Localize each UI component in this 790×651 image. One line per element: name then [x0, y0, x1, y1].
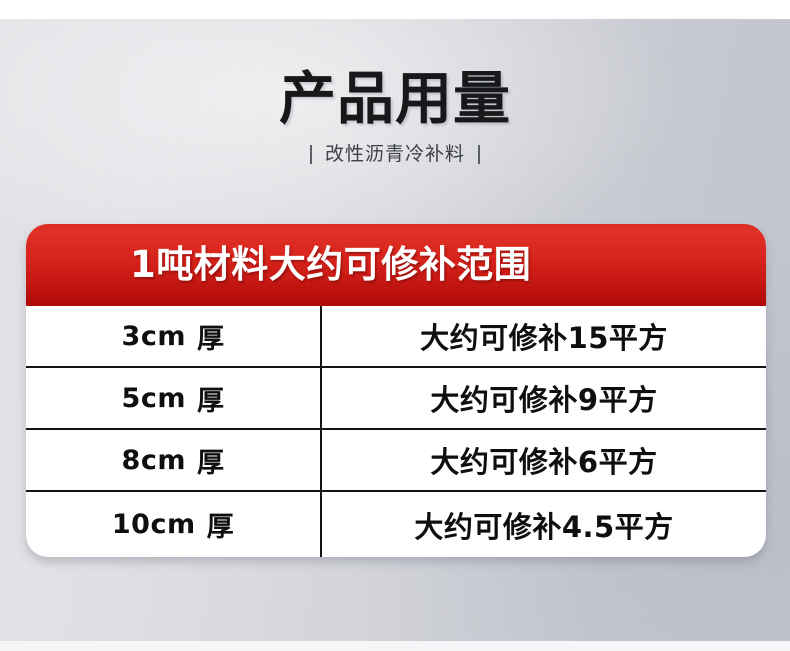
table-row: 5cm 厚 大约可修补9平方	[26, 368, 766, 430]
table-row: 3cm 厚 大约可修补15平方	[26, 306, 766, 368]
coverage-cell: 大约可修补4.5平方	[322, 492, 766, 557]
thickness-cell: 10cm 厚	[26, 492, 322, 557]
thickness-unit: 厚	[207, 505, 235, 544]
product-usage-infographic: 产品用量 改性沥青冷补料 1吨材料大约可修补范围 3cm 厚 大约可修补15平方	[0, 0, 790, 651]
thickness-value: 3cm	[122, 321, 186, 352]
coverage-cell: 大约可修补15平方	[322, 306, 766, 366]
coverage-table-header-title: 1吨材料大约可修补范围	[26, 243, 531, 287]
background-top-strip	[0, 0, 790, 19]
page-subtitle-row: 改性沥青冷补料	[0, 142, 790, 166]
page-subtitle: 改性沥青冷补料	[325, 142, 465, 166]
thickness-value: 8cm	[122, 445, 186, 476]
thickness-unit: 厚	[197, 379, 225, 418]
table-row: 8cm 厚 大约可修补6平方	[26, 430, 766, 492]
coverage-table-card: 1吨材料大约可修补范围 3cm 厚 大约可修补15平方 5cm 厚 大约可修补9…	[26, 224, 766, 557]
thickness-unit: 厚	[197, 441, 225, 480]
table-row: 10cm 厚 大约可修补4.5平方	[26, 492, 766, 557]
thickness-cell: 5cm 厚	[26, 368, 322, 428]
coverage-cell: 大约可修补9平方	[322, 368, 766, 428]
coverage-table-body: 3cm 厚 大约可修补15平方 5cm 厚 大约可修补9平方 8cm	[26, 306, 766, 557]
thickness-cell: 3cm 厚	[26, 306, 322, 366]
background-bottom-strip	[0, 641, 790, 651]
coverage-cell: 大约可修补6平方	[322, 430, 766, 490]
thickness-value: 10cm	[112, 509, 196, 540]
subtitle-right-bar-icon	[478, 145, 480, 164]
thickness-unit: 厚	[197, 317, 225, 356]
subtitle-left-bar-icon	[310, 145, 312, 164]
heading-block: 产品用量 改性沥青冷补料	[0, 68, 790, 166]
coverage-table-header: 1吨材料大约可修补范围	[26, 224, 766, 306]
thickness-value: 5cm	[122, 383, 186, 414]
thickness-cell: 8cm 厚	[26, 430, 322, 490]
page-title: 产品用量	[0, 68, 790, 130]
